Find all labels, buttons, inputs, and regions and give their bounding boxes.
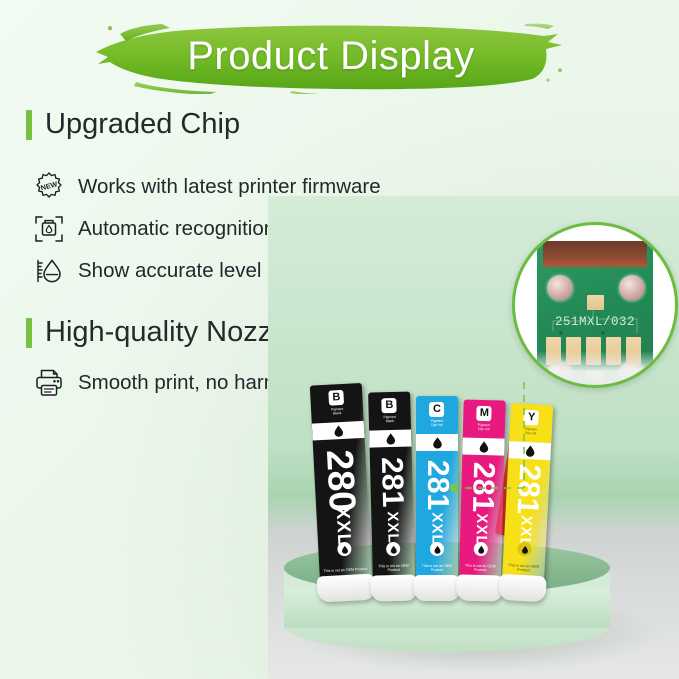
printer-icon [28, 362, 70, 404]
badge-letter: B [382, 398, 397, 413]
cartridge-model-number: 281 [376, 457, 408, 508]
badge-subtitle: PigmentDye Ink [478, 423, 491, 432]
cartridge-stripe [462, 437, 504, 455]
cartridge-model-number: 281 [511, 464, 544, 516]
seal-drop-icon [476, 544, 485, 553]
badge-subtitle: PigmentDye Ink [524, 427, 537, 436]
ink-drop-icon [431, 436, 444, 449]
badge-subtitle: PigmentBlack [331, 407, 344, 416]
cartridge-fine-print: This is not an OEM Product [418, 564, 456, 573]
page-title: Product Display [96, 18, 566, 94]
magnifier-gloss [515, 351, 675, 385]
cartridge-280-b: BPigmentBlack280XXLThis is not an OEM Pr… [310, 383, 372, 581]
cartridge-foot [370, 574, 418, 601]
cartridge-fine-print: This is not an OEM Product [375, 563, 413, 573]
cartridge-foot [498, 574, 546, 602]
cartridge-color-badge: BPigmentBlack [373, 396, 406, 427]
cartridge-model-number: 281 [467, 462, 499, 513]
cartridge-seal [474, 542, 488, 556]
chip-magnifier: 251MXL/032 [512, 222, 678, 388]
cartridge-color-badge: CPigmentDye Ink [421, 400, 453, 430]
new-badge-icon: NEW [28, 166, 70, 208]
badge-subtitle: PigmentBlack [383, 415, 396, 424]
cartridge-281-b: BPigmentBlack281XXLThis is not an OEM Pr… [368, 392, 415, 581]
ink-drop-icon [331, 424, 345, 438]
cartridge-body: MPigmentDye Ink281XXLThis is not an OEM … [459, 400, 506, 581]
badge-letter: B [329, 390, 345, 406]
cartridge-body: CPigmentDye Ink281XXLThis is not an OEM … [416, 396, 458, 580]
cartridge-281-m: MPigmentDye Ink281XXLThis is not an OEM … [459, 400, 506, 581]
cartridge-body: BPigmentBlack281XXLThis is not an OEM Pr… [368, 392, 415, 581]
badge-subtitle: PigmentDye Ink [431, 419, 443, 428]
cartridge-281-c: CPigmentDye Ink281XXLThis is not an OEM … [416, 396, 458, 580]
cartridge-seal [337, 542, 352, 557]
title-banner: Product Display [96, 18, 566, 94]
section-heading-nozzle: High-quality Nozzle [26, 316, 295, 349]
seal-drop-icon [433, 545, 442, 554]
seal-drop-icon [520, 544, 529, 553]
cartridge-stripe [312, 421, 365, 441]
accent-bar [26, 110, 32, 140]
cartridge-color-badge: MPigmentDye Ink [468, 404, 501, 435]
cartridge-foot [413, 575, 460, 601]
cartridge-281-y: YPigmentDye Ink281XXLThis is not an OEM … [502, 403, 553, 581]
cartridge-foot [456, 574, 504, 601]
ink-drop-icon [523, 444, 537, 458]
cartridge-stripe [416, 434, 458, 451]
ink-drop-icon [384, 432, 397, 445]
cartridge-size-label: XXL [333, 507, 354, 547]
cartridge-group: BPigmentBlack280XXLThis is not an OEM Pr… [320, 380, 610, 580]
badge-letter: C [430, 402, 445, 417]
cartridge-size-label: XXL [429, 512, 444, 544]
cartridge-fine-print: This is not an OEM Product [504, 563, 542, 574]
ink-level-droplet-icon [28, 250, 70, 292]
cartridge-color-badge: BPigmentBlack [316, 387, 357, 419]
badge-letter: Y [524, 410, 540, 426]
cartridge-stripe [369, 430, 411, 448]
cartridge-stripe [508, 441, 551, 460]
feature-text: Show accurate level [78, 259, 261, 283]
seal-drop-icon [389, 544, 398, 553]
section-heading-upgraded-chip: Upgraded Chip [26, 108, 240, 141]
accent-bar [26, 318, 32, 348]
cartridge-fine-print: This is not an OEM Product [461, 563, 499, 573]
section-title-text: High-quality Nozzle [45, 316, 295, 349]
product-display-page: Product Display Upgraded Chip NEW Works … [0, 0, 679, 679]
section-title-text: Upgraded Chip [45, 108, 240, 141]
cartridge-color-badge: YPigmentDye Ink [515, 407, 548, 439]
cartridge-foot [317, 573, 377, 602]
cartridge-model-number: 281 [422, 460, 452, 510]
seal-drop-icon [340, 544, 349, 553]
cartridge-seal [430, 542, 444, 556]
cartridge-model-number: 280 [321, 449, 362, 513]
cartridge-body: BPigmentBlack280XXLThis is not an OEM Pr… [310, 383, 372, 581]
badge-letter: M [477, 406, 492, 421]
scan-recognition-icon [28, 208, 70, 250]
cartridge-seal [517, 542, 532, 557]
cartridge-body: YPigmentDye Ink281XXLThis is not an OEM … [502, 403, 553, 581]
feature-row-ink-level: Show accurate level [28, 250, 261, 292]
svg-text:NEW: NEW [40, 179, 59, 192]
cartridge-size-label: XXL [385, 511, 401, 544]
ink-drop-icon [477, 440, 490, 453]
cartridge-seal [386, 542, 400, 556]
